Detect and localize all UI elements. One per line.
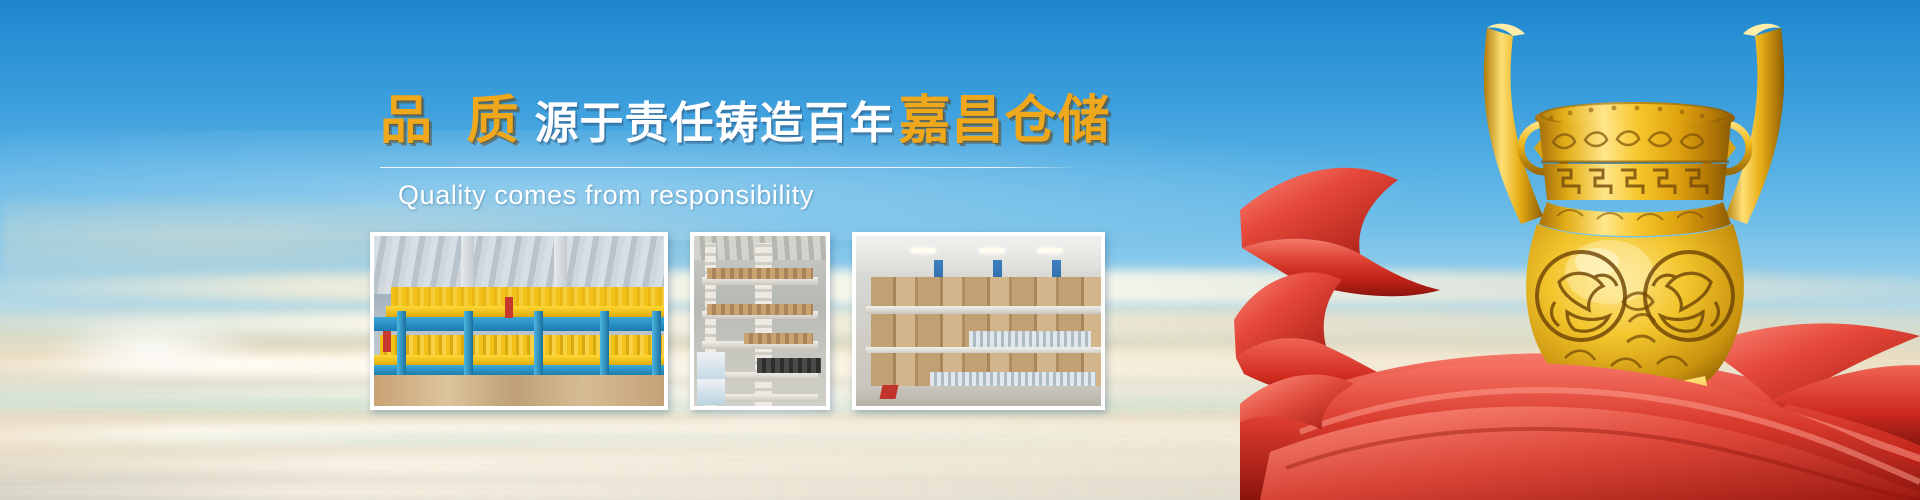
headline-block: 品 质源于责任铸造百年嘉昌仓储 Quality comes from respo…	[380, 92, 1140, 211]
shelving-cartons-photo[interactable]	[852, 232, 1105, 410]
headline-gold-brand: 嘉昌仓储	[898, 92, 1110, 150]
subtitle: Quality comes from responsibility	[398, 180, 1140, 211]
cantilever-racking-photo[interactable]	[690, 232, 830, 410]
headline: 品 质源于责任铸造百年嘉昌仓储	[380, 92, 1140, 153]
mezzanine-racking-photo[interactable]	[370, 232, 668, 410]
promo-banner: 品 质源于责任铸造百年嘉昌仓储 Quality comes from respo…	[0, 0, 1920, 500]
golden-ding-vessel	[1425, 10, 1845, 490]
ding-shoulder	[1539, 202, 1731, 236]
photo-strip	[370, 232, 1105, 410]
headline-white-middle: 源于责任铸造百年	[534, 99, 894, 148]
headline-gold-lead: 品 质	[380, 92, 528, 150]
headline-divider	[380, 167, 1080, 168]
